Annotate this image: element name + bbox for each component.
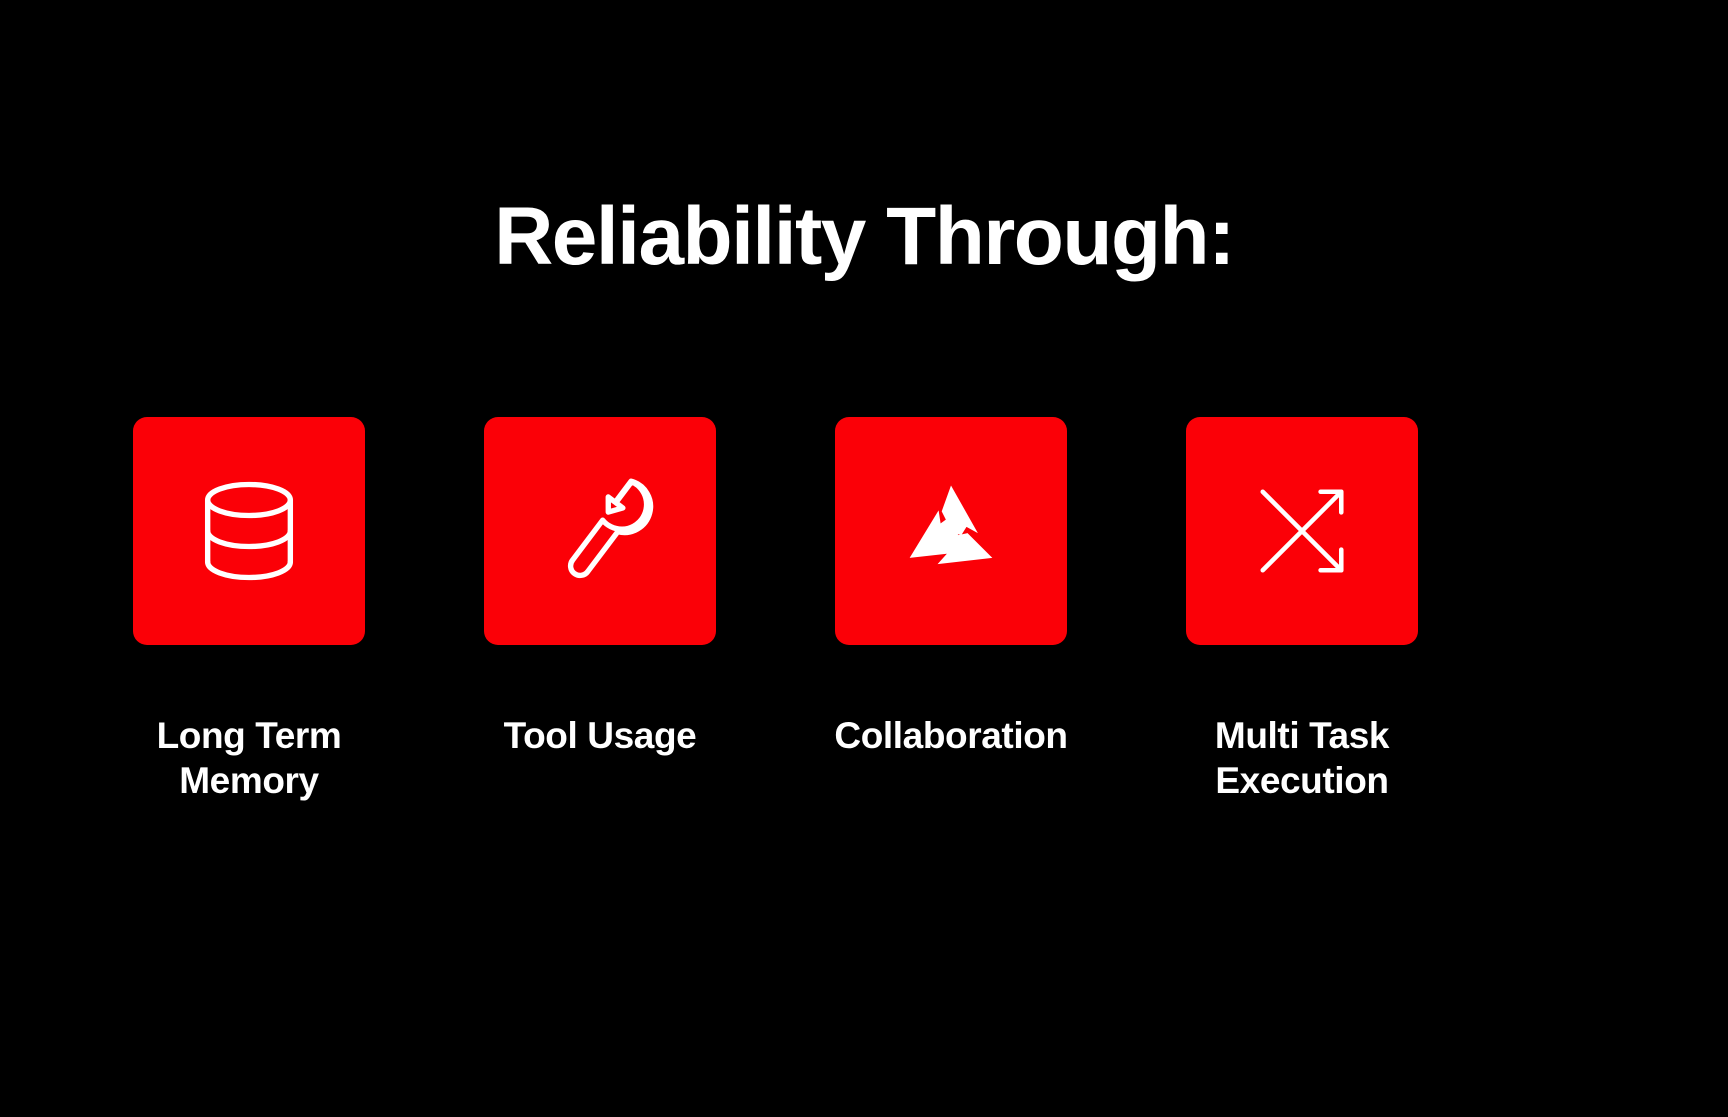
page-title: Reliability Through:: [0, 196, 1728, 278]
icon-tile[interactable]: [133, 417, 365, 645]
database-icon: [187, 469, 311, 593]
icon-tile[interactable]: [484, 417, 716, 645]
icon-tile[interactable]: [1186, 417, 1418, 645]
cycle-arrows-icon: [889, 469, 1013, 593]
feature-card-label: Long Term Memory: [157, 713, 342, 803]
feature-card-multi-task-execution[interactable]: Multi Task Execution: [1186, 417, 1418, 803]
shuffle-arrows-icon: [1240, 469, 1364, 593]
slide-root: Reliability Through: Long Term Memory: [0, 0, 1728, 1117]
feature-card-long-term-memory[interactable]: Long Term Memory: [133, 417, 365, 803]
wrench-icon: [538, 469, 662, 593]
feature-card-collaboration[interactable]: Collaboration: [835, 417, 1067, 758]
icon-tile[interactable]: [835, 417, 1067, 645]
feature-card-tool-usage[interactable]: Tool Usage: [484, 417, 716, 758]
feature-card-label: Collaboration: [834, 713, 1067, 758]
feature-cards-row: Long Term Memory Tool Usage: [133, 417, 1418, 803]
feature-card-label: Tool Usage: [504, 713, 697, 758]
feature-card-label: Multi Task Execution: [1215, 713, 1389, 803]
